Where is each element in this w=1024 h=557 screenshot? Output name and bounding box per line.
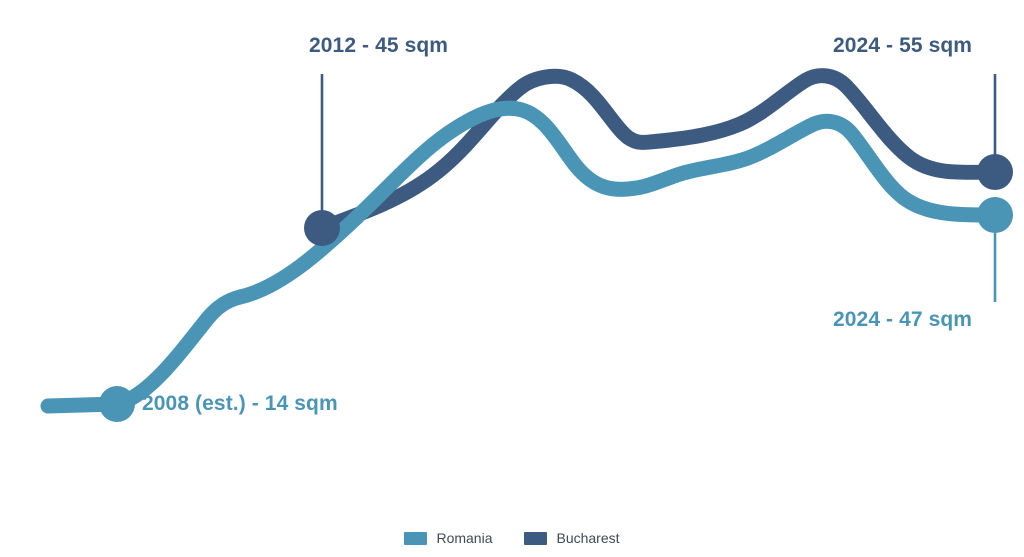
- annotation-label-romania-2008: 2008 (est.) - 14 sqm: [142, 393, 338, 414]
- line-chart-canvas: [0, 0, 1024, 557]
- chart-legend: Romania Bucharest: [0, 531, 1024, 545]
- data-point-romania-2024: [977, 197, 1013, 233]
- chart-container: 2012 - 45 sqm 2024 - 55 sqm 2024 - 47 sq…: [0, 0, 1024, 557]
- annotation-label-bucharest-2012: 2012 - 45 sqm: [309, 35, 448, 56]
- data-point-bucharest-2012: [304, 210, 340, 246]
- annotation-label-romania-2024: 2024 - 47 sqm: [833, 309, 972, 330]
- legend-swatch-icon-bucharest: [524, 532, 547, 545]
- data-point-bucharest-2024: [977, 154, 1013, 190]
- annotation-label-bucharest-2024: 2024 - 55 sqm: [833, 35, 972, 56]
- legend-label-bucharest: Bucharest: [556, 531, 619, 545]
- series-line-romania: [48, 108, 995, 406]
- data-point-romania-2008: [99, 386, 135, 422]
- legend-item-romania[interactable]: Romania: [404, 531, 492, 545]
- legend-label-romania: Romania: [436, 531, 492, 545]
- legend-swatch-icon-romania: [404, 532, 427, 545]
- legend-item-bucharest[interactable]: Bucharest: [524, 531, 619, 545]
